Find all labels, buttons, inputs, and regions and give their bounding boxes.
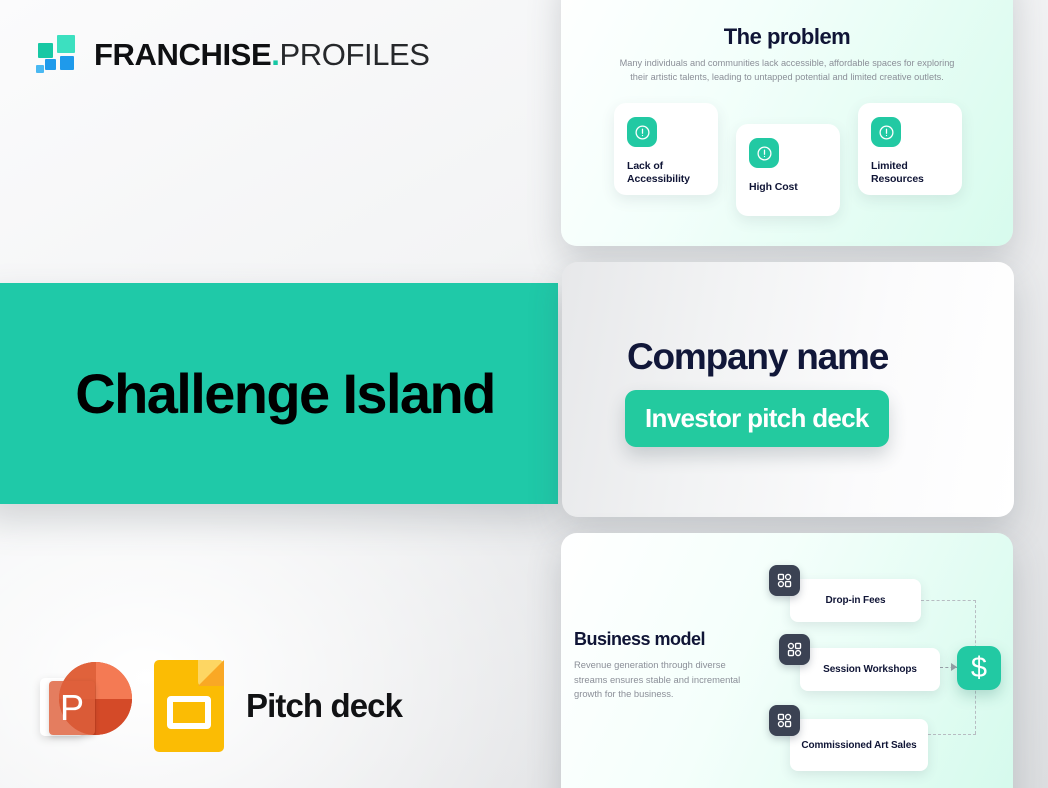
investor-pitch-deck-badge: Investor pitch deck [625, 390, 889, 447]
revenue-stream-card: Session Workshops [800, 648, 940, 691]
investor-pitch-deck-label: Investor pitch deck [645, 405, 869, 431]
brand-header: FRANCHISE.PROFILES [36, 34, 430, 74]
problem-card-label: Limited Resources [871, 160, 949, 186]
revenue-stream-card: Drop-in Fees [790, 579, 921, 622]
problem-slide-subtitle: Many individuals and communities lack ac… [619, 56, 955, 85]
brand-name-bold: FRANCHISE [94, 37, 271, 72]
alert-circle-icon [749, 138, 779, 168]
powerpoint-glyph: P [49, 681, 95, 735]
dollar-sign-icon: $ [957, 646, 1001, 690]
google-slides-icon [154, 660, 224, 752]
connector-line [928, 734, 976, 735]
franchise-title-banner: Challenge Island [0, 283, 558, 504]
problem-card: Lack of Accessibility [614, 103, 718, 195]
format-label: Pitch deck [246, 687, 402, 725]
logo-squares-icon [36, 34, 80, 74]
alert-circle-icon [627, 117, 657, 147]
business-slide-subtitle: Revenue generation through diverse strea… [574, 658, 756, 702]
dollar-glyph: $ [971, 654, 987, 683]
format-availability-row: P Pitch deck [40, 660, 402, 752]
problem-card: Limited Resources [858, 103, 962, 195]
problem-slide-title: The problem [561, 24, 1013, 50]
slide-preview-business-model[interactable]: Business model Revenue generation throug… [561, 533, 1013, 788]
powerpoint-icon: P [40, 660, 132, 752]
alert-circle-icon [871, 117, 901, 147]
problem-card: High Cost [736, 124, 840, 216]
company-slide-title: Company name [627, 336, 888, 378]
page-title: Challenge Island [45, 366, 494, 422]
grid-squares-icon [779, 634, 810, 665]
revenue-stream-label: Commissioned Art Sales [801, 739, 916, 752]
problem-card-label: Lack of Accessibility [627, 160, 705, 186]
revenue-stream-label: Drop-in Fees [826, 594, 886, 607]
connector-line [921, 600, 976, 601]
grid-squares-icon [769, 705, 800, 736]
slide-preview-company[interactable]: Company name Investor pitch deck [562, 262, 1014, 517]
slide-preview-problem[interactable]: The problem Many individuals and communi… [561, 0, 1013, 246]
preview-canvas: FRANCHISE.PROFILES Challenge Island P Pi… [0, 0, 1048, 788]
brand-wordmark: FRANCHISE.PROFILES [94, 39, 430, 70]
brand-name-light: PROFILES [279, 37, 429, 72]
problem-card-label: High Cost [749, 181, 827, 194]
revenue-stream-label: Session Workshops [823, 663, 917, 676]
revenue-stream-card: Commissioned Art Sales [790, 719, 928, 771]
grid-squares-icon [769, 565, 800, 596]
business-slide-title: Business model [574, 629, 784, 650]
